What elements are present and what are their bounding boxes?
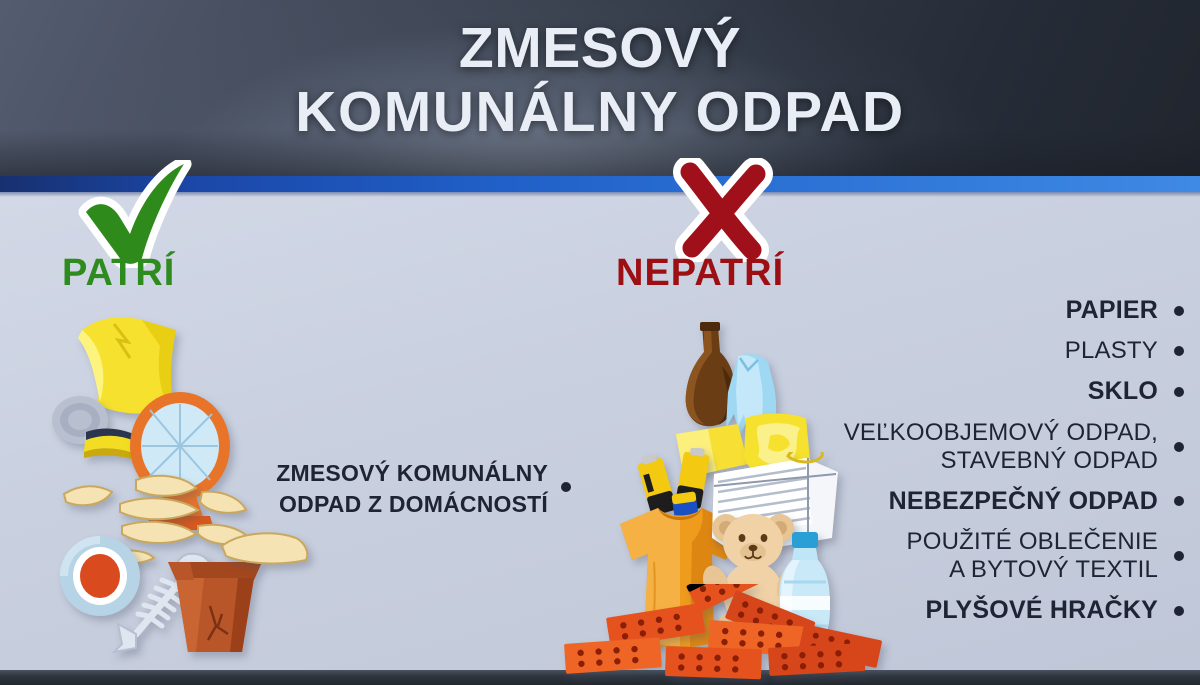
poster-header: ZMESOVÝ KOMUNÁLNY ODPAD [0, 0, 1200, 176]
list-item: SKLO [764, 377, 1184, 406]
list-item-bullet [1174, 387, 1184, 397]
list-item-bullet [1174, 442, 1184, 452]
list-item: PLASTY [764, 337, 1184, 365]
list-item-bullet [1174, 551, 1184, 561]
list-item-label: NEBEZPEČNÝ ODPAD [889, 487, 1158, 516]
list-item-label: PLASTY [1065, 337, 1158, 365]
list-item-bullet [1174, 306, 1184, 316]
list-item: PLYŠOVÉ HRAČKY [764, 596, 1184, 625]
list-item: NEBEZPEČNÝ ODPAD [764, 487, 1184, 516]
page-title: ZMESOVÝ KOMUNÁLNY ODPAD [0, 16, 1200, 145]
list-item: PAPIER [764, 296, 1184, 325]
infographic-poster: ZMESOVÝ KOMUNÁLNY ODPAD PATRÍ NEPATRÍ ZM… [0, 0, 1200, 685]
accept-label: ZMESOVÝ KOMUNÁLNY ODPAD Z DOMÁCNOSTÍ [248, 458, 548, 519]
title-line-1: ZMESOVÝ [0, 16, 1200, 80]
accept-label-bullet [561, 482, 571, 492]
list-item-bullet [1174, 346, 1184, 356]
reject-items-list: PAPIER PLASTY SKLO VEĽKOOBJEMOVÝ ODPAD, … [764, 296, 1184, 637]
list-item-label: POUŽITÉ OBLEČENIE A BYTOVÝ TEXTIL [907, 528, 1158, 584]
title-line-2: KOMUNÁLNY ODPAD [0, 80, 1200, 144]
accept-heading: PATRÍ [62, 252, 175, 295]
ceramic-shard-illustration [218, 528, 314, 575]
list-item-bullet [1174, 606, 1184, 616]
list-item-bullet [1174, 496, 1184, 506]
list-item: POUŽITÉ OBLEČENIE A BYTOVÝ TEXTIL [764, 528, 1184, 584]
reject-heading: NEPATRÍ [616, 252, 784, 295]
list-item: VEĽKOOBJEMOVÝ ODPAD, STAVEBNÝ ODPAD [764, 419, 1184, 475]
list-item-label: PAPIER [1066, 296, 1158, 325]
list-item-label: PLYŠOVÉ HRAČKY [926, 596, 1159, 625]
cross-mark-icon [672, 158, 776, 267]
list-item-label: VEĽKOOBJEMOVÝ ODPAD, STAVEBNÝ ODPAD [844, 419, 1158, 475]
list-item-label: SKLO [1088, 377, 1158, 406]
